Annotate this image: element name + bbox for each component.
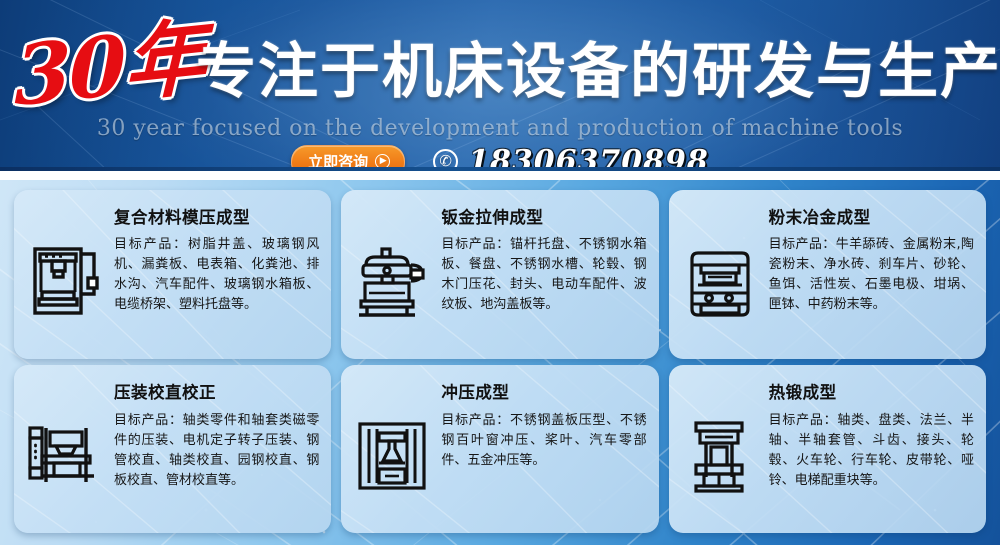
- hot-forging-press-icon: [677, 377, 763, 524]
- card-description: 目标产品：树脂井盖、玻璃钢风机、漏粪板、电表箱、化粪池、排水沟、汽车配件、玻璃钢…: [114, 235, 319, 316]
- card-sheet-metal-drawing[interactable]: 钣金拉伸成型 目标产品：锚杆托盘、不锈钢水箱板、餐盘、不锈钢水槽、轮毂、钢木门压…: [341, 190, 658, 359]
- card-title: 复合材料模压成型: [114, 204, 319, 228]
- cards-section: 复合材料模压成型 目标产品：树脂井盖、玻璃钢风机、漏粪板、电表箱、化粪池、排水沟…: [0, 180, 1000, 545]
- subheadline-text: 30 year focused on the development and p…: [0, 116, 1000, 141]
- card-compression-molding[interactable]: 复合材料模压成型 目标产品：树脂井盖、玻璃钢风机、漏粪板、电表箱、化粪池、排水沟…: [14, 190, 331, 359]
- headline-text: 专注于机床设备的研发与生产: [196, 42, 996, 102]
- card-text-block: 热锻成型 目标产品：轴类、盘类、法兰、半轴、半轴套管、斗齿、接头、轮毂、火车轮、…: [769, 377, 974, 492]
- card-press-fit-straightening[interactable]: 压装校直校正 目标产品：轴类零件和轴套类磁零件的压装、电机定子转子压装、钢管校直…: [14, 365, 331, 534]
- banner-header: 30年 专注于机床设备的研发与生产 30 year focused on the…: [0, 0, 1000, 180]
- card-text-block: 冲压成型 目标产品：不锈钢盖板压型、不锈钢百叶窗冲压、桨叶、汽车零部件、五金冲压…: [441, 377, 646, 471]
- years-badge: 30年: [15, 16, 204, 118]
- card-description: 目标产品：轴类、盘类、法兰、半轴、半轴套管、斗齿、接头、轮毂、火车轮、行车轮、皮…: [769, 411, 974, 492]
- card-title: 压装校直校正: [114, 379, 319, 403]
- cards-grid: 复合材料模压成型 目标产品：树脂井盖、玻璃钢风机、漏粪板、电表箱、化粪池、排水沟…: [0, 180, 1000, 545]
- card-title: 钣金拉伸成型: [441, 204, 646, 228]
- card-description: 目标产品：不锈钢盖板压型、不锈钢百叶窗冲压、桨叶、汽车零部件、五金冲压等。: [441, 411, 646, 471]
- powder-metallurgy-press-icon: [677, 202, 763, 349]
- sheet-metal-drawing-press-icon: [349, 202, 435, 349]
- card-description: 目标产品：锚杆托盘、不锈钢水箱板、餐盘、不锈钢水槽、轮毂、钢木门压花、封头、电动…: [441, 235, 646, 316]
- card-title: 冲压成型: [441, 379, 646, 403]
- header-divider: [0, 171, 1000, 180]
- card-text-block: 复合材料模压成型 目标产品：树脂井盖、玻璃钢风机、漏粪板、电表箱、化粪池、排水沟…: [114, 202, 319, 316]
- card-powder-metallurgy[interactable]: 粉末冶金成型 目标产品：牛羊舔砖、金属粉末,陶瓷粉末、净水砖、刹车片、砂轮、鱼饵…: [669, 190, 986, 359]
- card-description: 目标产品：牛羊舔砖、金属粉末,陶瓷粉末、净水砖、刹车片、砂轮、鱼饵、活性炭、石墨…: [769, 235, 974, 316]
- card-hot-forging[interactable]: 热锻成型 目标产品：轴类、盘类、法兰、半轴、半轴套管、斗齿、接头、轮毂、火车轮、…: [669, 365, 986, 534]
- card-title: 热锻成型: [769, 379, 974, 403]
- card-description: 目标产品：轴类零件和轴套类磁零件的压装、电机定子转子压装、钢管校直、轴类校直、园…: [114, 411, 319, 492]
- card-text-block: 钣金拉伸成型 目标产品：锚杆托盘、不锈钢水箱板、餐盘、不锈钢水槽、轮毂、钢木门压…: [441, 202, 646, 316]
- card-stamping[interactable]: 冲压成型 目标产品：不锈钢盖板压型、不锈钢百叶窗冲压、桨叶、汽车零部件、五金冲压…: [341, 365, 658, 534]
- card-text-block: 粉末冶金成型 目标产品：牛羊舔砖、金属粉末,陶瓷粉末、净水砖、刹车片、砂轮、鱼饵…: [769, 202, 974, 316]
- stamping-press-icon: [349, 377, 435, 524]
- card-title: 粉末冶金成型: [769, 204, 974, 228]
- compression-molding-press-icon: [22, 202, 108, 349]
- press-fit-straightening-icon: [22, 377, 108, 524]
- card-text-block: 压装校直校正 目标产品：轴类零件和轴套类磁零件的压装、电机定子转子压装、钢管校直…: [114, 377, 319, 492]
- banner-page: 30年 专注于机床设备的研发与生产 30 year focused on the…: [0, 0, 1000, 545]
